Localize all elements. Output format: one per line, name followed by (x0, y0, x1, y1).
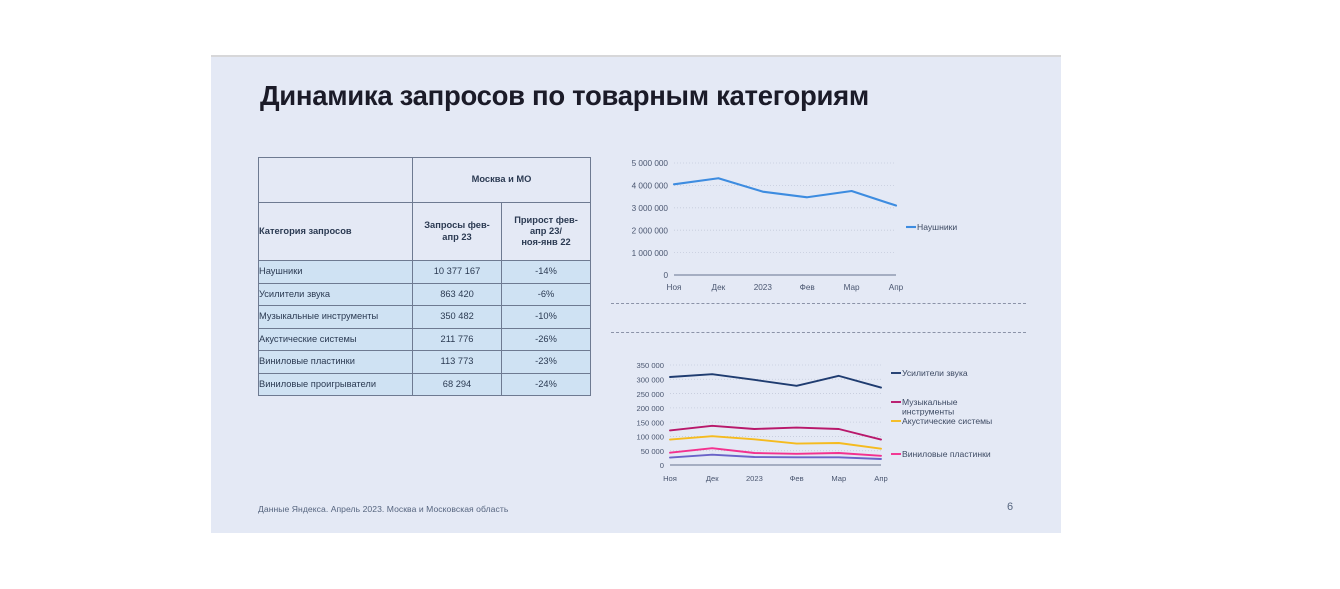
y-axis-tick-label: 5 000 000 (632, 159, 669, 168)
table-cell-category: Усилители звука (259, 283, 413, 306)
x-axis-tick-label: Дек (712, 283, 726, 292)
queries-table-container: Москва и МО Категория запросов Запросы ф… (258, 157, 591, 396)
footer-source-note: Данные Яндекса. Апрель 2023. Москва и Мо… (258, 504, 508, 514)
y-axis-tick-label: 300 000 (637, 375, 664, 384)
x-axis-tick-label: Мар (844, 283, 860, 292)
table-row: Виниловые пластинки 113 773 -23% (259, 351, 591, 374)
series-line-2 (670, 436, 881, 449)
x-axis-tick-label: 2023 (754, 283, 773, 292)
table-header-queries-line2: апр 23 (442, 232, 471, 242)
series-line-0 (670, 374, 881, 387)
x-axis-tick-label: Ноя (663, 474, 677, 483)
divider-line-1 (611, 303, 1026, 304)
y-axis-tick-label: 3 000 000 (632, 204, 669, 213)
table-header-growth-line3: ноя-янв 22 (521, 237, 570, 247)
table-header-growth: Прирост фев- апр 23/ ноя-янв 22 (502, 203, 591, 261)
legend-label-0: Наушники (917, 222, 957, 232)
table-cell-growth: -6% (502, 283, 591, 306)
x-axis-tick-label: Ноя (667, 283, 682, 292)
legend-label-3: Виниловые пластинки (902, 449, 991, 459)
queries-table: Москва и МО Категория запросов Запросы ф… (258, 157, 591, 396)
y-axis-tick-label: 2 000 000 (632, 226, 669, 235)
y-axis-tick-label: 0 (663, 271, 668, 280)
y-axis-tick-label: 350 000 (637, 361, 664, 370)
table-cell-category: Наушники (259, 261, 413, 284)
legend-label-1: инструменты (902, 407, 954, 417)
table-row: Виниловые проигрыватели 68 294 -24% (259, 373, 591, 396)
x-axis-tick-label: Фев (800, 283, 815, 292)
x-axis-tick-label: Дек (706, 474, 719, 483)
table-cell-category: Музыкальные инструменты (259, 306, 413, 329)
series-line-4 (670, 455, 881, 459)
table-header-region: Москва и МО (413, 158, 591, 203)
y-axis-tick-label: 1 000 000 (632, 249, 669, 258)
x-axis-tick-label: Апр (874, 474, 887, 483)
table-header-category: Категория запросов (259, 203, 413, 261)
chart-top-svg: 01 000 0002 000 0003 000 0004 000 0005 0… (606, 155, 1026, 305)
table-cell-category: Виниловые пластинки (259, 351, 413, 374)
chart-headphones: 01 000 0002 000 0003 000 0004 000 0005 0… (606, 155, 1026, 305)
table-cell-growth: -23% (502, 351, 591, 374)
table-cell-queries: 68 294 (413, 373, 502, 396)
legend-label-2: Акустические системы (902, 416, 992, 426)
table-cell-queries: 10 377 167 (413, 261, 502, 284)
page-title: Динамика запросов по товарным категориям (260, 80, 1020, 112)
table-cell-category: Акустические системы (259, 328, 413, 351)
y-axis-tick-label: 150 000 (637, 418, 664, 427)
table-cell-queries: 113 773 (413, 351, 502, 374)
table-cell-queries: 211 776 (413, 328, 502, 351)
table-cell-queries: 350 482 (413, 306, 502, 329)
table-header-row-columns: Категория запросов Запросы фев- апр 23 П… (259, 203, 591, 261)
table-header-growth-line2: апр 23/ (530, 226, 562, 236)
divider-line-2 (611, 332, 1026, 333)
y-axis-tick-label: 4 000 000 (632, 182, 669, 191)
table-cell-growth: -10% (502, 306, 591, 329)
presentation-slide: Динамика запросов по товарным категориям… (211, 55, 1061, 533)
table-header-growth-line1: Прирост фев- (514, 215, 578, 225)
table-cell-queries: 863 420 (413, 283, 502, 306)
legend-label-1: Музыкальные (902, 397, 958, 407)
series-line-0 (674, 178, 896, 205)
table-header-blank (259, 158, 413, 203)
y-axis-tick-label: 50 000 (641, 447, 664, 456)
chart-other-categories: 050 000100 000150 000200 000250 000300 0… (606, 357, 1026, 497)
x-axis-tick-label: Мар (831, 474, 846, 483)
x-axis-tick-label: Фев (790, 474, 804, 483)
screenshot-root: Динамика запросов по товарным категориям… (0, 0, 1340, 589)
page-number: 6 (1000, 501, 1020, 513)
y-axis-tick-label: 250 000 (637, 390, 664, 399)
table-header-queries-line1: Запросы фев- (424, 220, 490, 230)
table-row: Музыкальные инструменты 350 482 -10% (259, 306, 591, 329)
table-cell-growth: -14% (502, 261, 591, 284)
table-cell-category: Виниловые проигрыватели (259, 373, 413, 396)
table-row: Наушники 10 377 167 -14% (259, 261, 591, 284)
table-row: Усилители звука 863 420 -6% (259, 283, 591, 306)
table-header-row-region: Москва и МО (259, 158, 591, 203)
table-row: Акустические системы 211 776 -26% (259, 328, 591, 351)
legend-label-0: Усилители звука (902, 368, 968, 378)
table-header-queries: Запросы фев- апр 23 (413, 203, 502, 261)
y-axis-tick-label: 200 000 (637, 404, 664, 413)
table-cell-growth: -24% (502, 373, 591, 396)
y-axis-tick-label: 100 000 (637, 433, 664, 442)
x-axis-tick-label: 2023 (746, 474, 763, 483)
table-cell-growth: -26% (502, 328, 591, 351)
chart-bottom-svg: 050 000100 000150 000200 000250 000300 0… (606, 357, 1026, 497)
x-axis-tick-label: Апр (889, 283, 904, 292)
y-axis-tick-label: 0 (660, 461, 664, 470)
